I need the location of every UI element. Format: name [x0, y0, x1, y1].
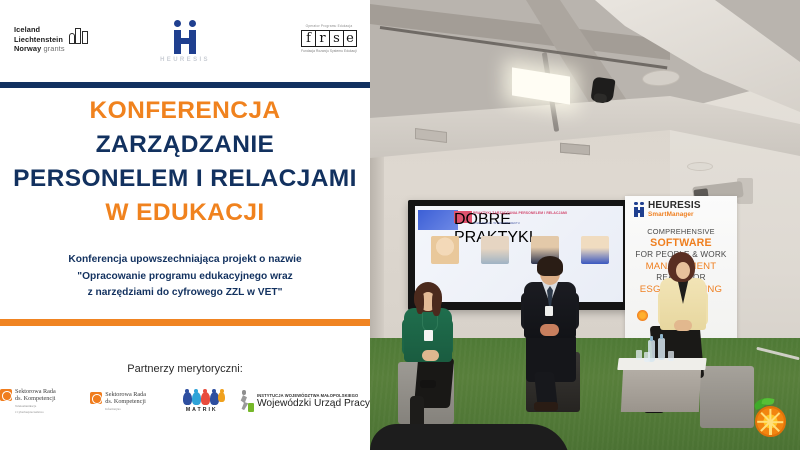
navy-divider-bar: [0, 82, 370, 88]
srk2-title-line1: Sektorowa Rada: [105, 391, 146, 398]
frse-letter-boxes: f r s e: [294, 30, 364, 47]
panelist-woman-green-hair-left: [416, 290, 424, 314]
wup-figure-icon: [239, 390, 254, 412]
speaker-thumb-4: [578, 236, 612, 288]
top-logo-row: Iceland Liechtenstein Norway grants HEUR…: [0, 0, 370, 82]
banner-h-icon: [633, 202, 645, 217]
srk1-title-line1: Sektorowa Rada: [15, 388, 56, 395]
orange-divider-bar: [0, 319, 370, 326]
title-line-edukacji: W EDUKACJI: [0, 198, 370, 227]
matrik-logo: MATRIK: [181, 390, 223, 413]
drinking-glass-2: [644, 352, 650, 362]
eea-line-liechtenstein: Liechtenstein: [14, 35, 65, 45]
heuresis-logo: HEURESIS: [160, 20, 210, 63]
eea-line-iceland: Iceland: [14, 25, 65, 35]
frse-letter-s: s: [329, 30, 343, 47]
panelist-man-suit-badge: [545, 306, 553, 316]
orange-fruit-watermark: [750, 398, 792, 440]
slide-title: PRAKTYKI ZARZĄDZANIA PERSONELEM I RELACJ…: [473, 211, 618, 216]
slide-speaker-grid: [420, 236, 620, 288]
panelist-woman-cream-hands: [674, 320, 692, 331]
banner-orange-icon: [637, 310, 648, 321]
slide-subtitle: W EDUKACJI - WYNIKI PROJEKTU: [473, 221, 593, 225]
frse-letter-e: e: [343, 30, 357, 47]
banner-line-1: COMPREHENSIVE: [625, 226, 737, 238]
frse-top-text: Operator Programu Edukacja: [294, 24, 364, 28]
partners-logo-row: Sektorowa Rada ds. Kompetencji Telekomun…: [0, 388, 370, 414]
speaker-thumb-2: [478, 236, 512, 288]
srk2-gear-icon: [90, 392, 102, 404]
srk1-sub-line1: Telekomunikacja: [15, 404, 56, 408]
eea-grants-text: Iceland Liechtenstein Norway grants: [14, 25, 65, 54]
watermark-fruit-icon: [755, 406, 786, 437]
ottoman-grey-right: [700, 366, 754, 428]
panelist-woman-green-shoe2: [420, 380, 436, 388]
conference-panel-photo: DOBRE PRAKTYKI PRAKTYKI ZARZĄDZANIA PERS…: [370, 0, 800, 450]
wup-main-text: Wojewódzki Urząd Pracy: [257, 398, 370, 410]
sektorowa-rada-kompetencji-2: Sektorowa Rada ds. Kompetencji Informaty…: [90, 391, 164, 412]
wup-top-text: INSTYTUCJA WOJEWÓDZTWA MAŁOPOLSKIEGO: [257, 393, 370, 398]
slide-blue-block: [418, 210, 458, 230]
slide-badge: DOBRE PRAKTYKI: [454, 211, 472, 223]
conference-subtitle: Konferencja upowszechniająca projekt o n…: [0, 252, 370, 302]
subtitle-line-3: z narzędziami do cyfrowego ZZL w VET": [0, 285, 370, 302]
srk2-title-line2: ds. Kompetencji: [105, 398, 146, 405]
srk2-sub-line1: Informatyka: [105, 407, 146, 411]
wojewodzki-urzad-pracy-logo: INSTYTUCJA WOJEWÓDZTWA MAŁOPOLSKIEGO Woj…: [239, 390, 370, 412]
foreground-chair: [370, 424, 570, 450]
ceiling-speaker-small-icon: [687, 162, 713, 171]
partners-heading: Partnerzy merytoryczni:: [0, 363, 370, 375]
frse-letter-f: f: [301, 30, 315, 47]
drinking-glass-3: [668, 351, 674, 361]
frse-bottom-text: Fundacja Rozwoju Systemu Edukacji: [294, 49, 364, 53]
heuresis-wordmark: HEURESIS: [160, 57, 210, 63]
matrik-people-icon: [181, 390, 223, 406]
poster-stage: Iceland Liechtenstein Norway grants HEUR…: [0, 0, 800, 450]
title-line-konferencja: KONFERENCJA: [0, 96, 370, 125]
banner-line-2: SOFTWARE: [625, 238, 737, 250]
frse-letter-r: r: [315, 30, 329, 47]
eea-norway-grants-logo: Iceland Liechtenstein Norway grants: [14, 25, 89, 54]
subtitle-line-1: Konferencja upowszechniająca projekt o n…: [0, 252, 370, 269]
panelist-man-suit-hands: [540, 324, 559, 336]
side-table-body: [621, 368, 701, 412]
srk1-sub-line2: i Cyberbezpieczeństwo: [15, 410, 56, 414]
panelist-woman-green-hair-right: [432, 290, 441, 316]
water-bottle-2: [658, 338, 665, 360]
panelist-woman-cream-face: [676, 262, 690, 279]
conference-title-block: KONFERENCJA ZARZĄDZANIE PERSONELEM I REL…: [0, 96, 370, 228]
srk1-title-line2: ds. Kompetencji: [15, 395, 56, 402]
srk-gear-icon: [0, 389, 12, 401]
panelist-man-suit-shoe: [534, 402, 558, 411]
panelist-man-suit-hair: [537, 256, 563, 276]
matrik-wordmark: MATRIK: [181, 407, 223, 413]
frse-logo: Operator Programu Edukacja f r s e Funda…: [294, 24, 364, 53]
subtitle-line-2: "Opracowanie programu edukacyjnego wraz: [0, 269, 370, 286]
drinking-glass-1: [636, 350, 642, 360]
eea-grants-blocks-icon: [69, 26, 89, 44]
sektorowa-rada-kompetencji-1: Sektorowa Rada ds. Kompetencji Telekomun…: [0, 388, 74, 414]
speaker-thumb-1: [428, 236, 462, 288]
panelist-woman-green-hands: [422, 350, 439, 361]
left-info-panel: Iceland Liechtenstein Norway grants HEUR…: [0, 0, 370, 450]
eea-line-norway: Norway grants: [14, 44, 65, 54]
heuresis-h-icon: [170, 20, 200, 54]
banner-heuresis-logo: HEURESIS SmartManager: [633, 201, 701, 218]
panelist-woman-green-badge: [424, 330, 433, 341]
banner-logo-primary: HEURESIS: [648, 201, 701, 211]
title-line-zarzadzanie: ZARZĄDZANIE: [0, 130, 370, 159]
banner-logo-secondary: SmartManager: [648, 211, 701, 218]
title-line-personelem: PERSONELEM I RELACJAMI: [0, 164, 370, 193]
